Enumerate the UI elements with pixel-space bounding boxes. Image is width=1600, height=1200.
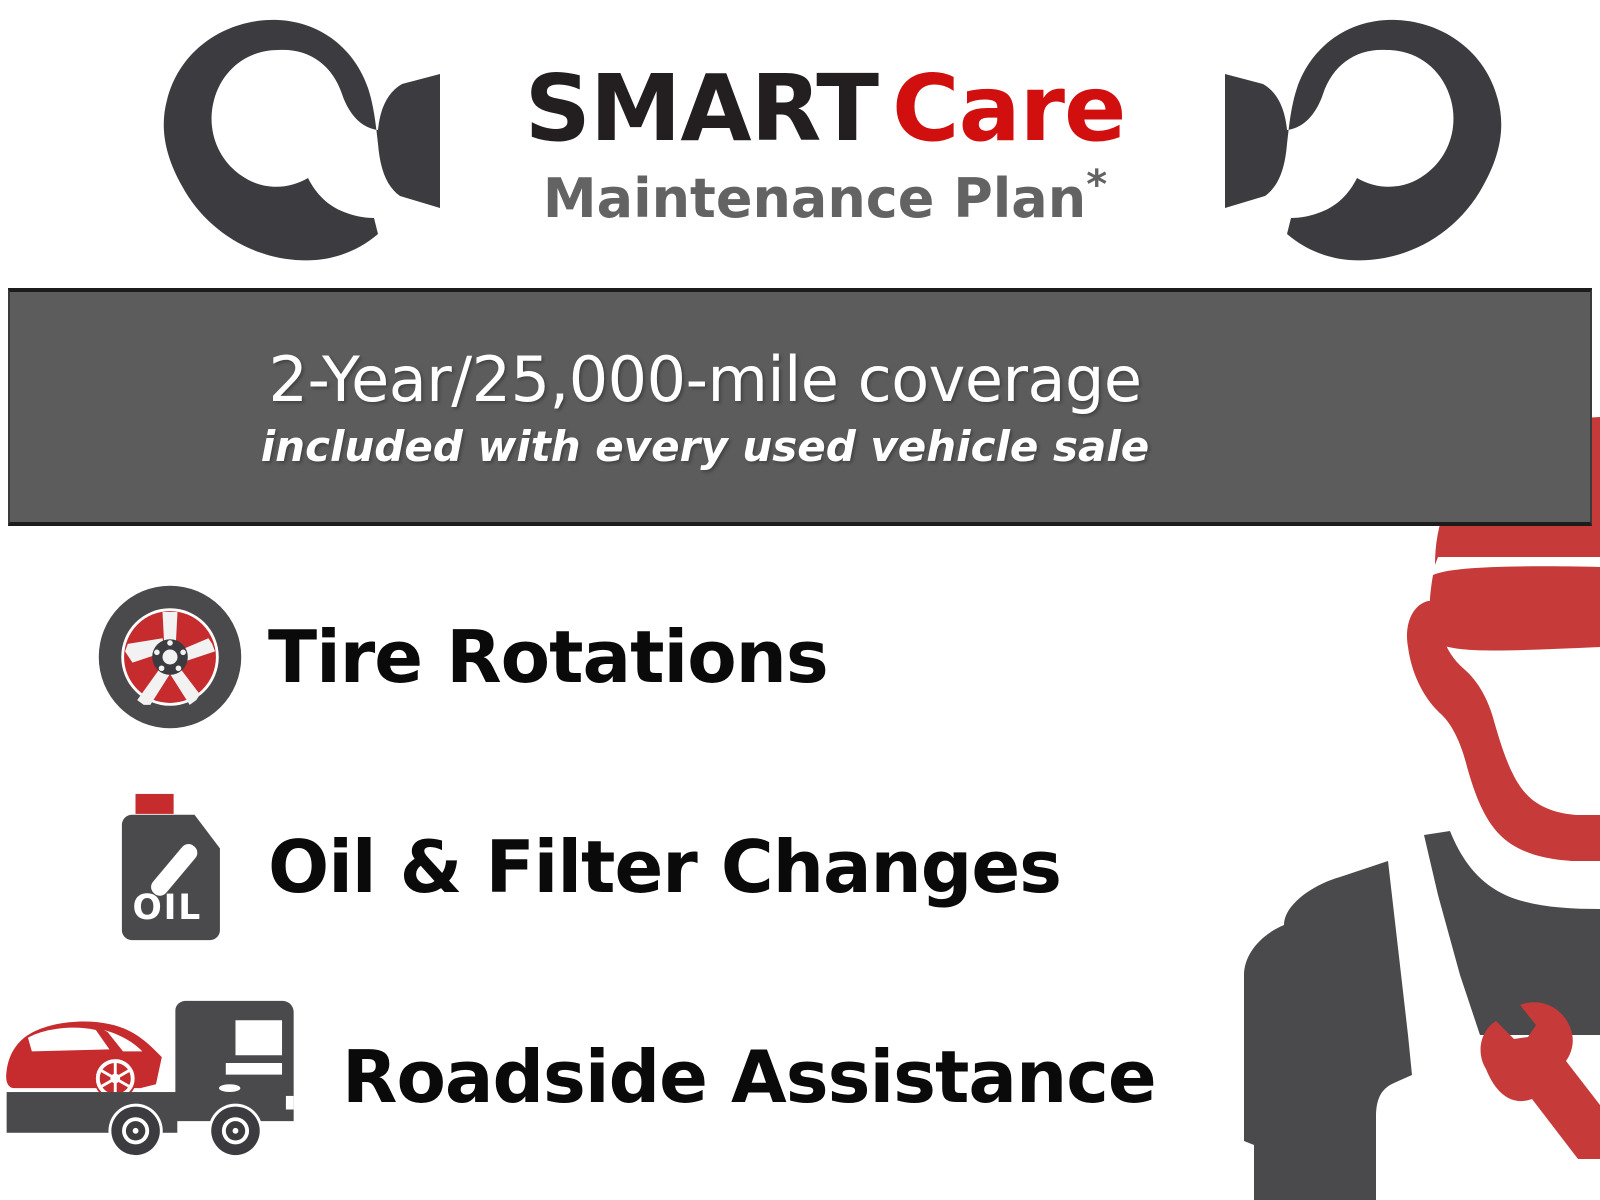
feature-row-roadside-assistance: Roadside Assistance bbox=[0, 972, 1180, 1182]
tow-truck-icon bbox=[0, 995, 320, 1160]
mechanic-cap-brim bbox=[1430, 566, 1600, 650]
brand-name-secondary: Care bbox=[892, 55, 1125, 162]
truck-cab bbox=[175, 1000, 293, 1120]
logo-header: SMARTCare Maintenance Plan* bbox=[0, 0, 1600, 282]
brand-subtitle-text: Maintenance Plan bbox=[543, 167, 1086, 230]
mechanic-illustration bbox=[1180, 415, 1600, 1200]
mechanic-overall-left bbox=[1244, 861, 1412, 1200]
oil-bottle-icon: OIL bbox=[60, 792, 280, 942]
wrench-icon bbox=[1225, 8, 1555, 268]
brand-name-primary: SMART bbox=[525, 55, 878, 162]
brand-title: SMARTCare bbox=[430, 62, 1220, 156]
coverage-headline: 2-Year/25,000-mile coverage bbox=[269, 343, 1142, 416]
feature-list: Tire Rotations OIL Oil & Filter Changes bbox=[0, 552, 1180, 1182]
feature-label-tire-rotations: Tire Rotations bbox=[268, 615, 828, 699]
brand-subtitle: Maintenance Plan* bbox=[430, 162, 1220, 230]
truck-wheel bbox=[208, 1103, 262, 1157]
coverage-subline: included with every used vehicle sale bbox=[261, 422, 1149, 471]
feature-label-roadside-assistance: Roadside Assistance bbox=[342, 1035, 1156, 1119]
brand-subtitle-footnote-marker: * bbox=[1086, 162, 1107, 208]
truck-wheel bbox=[108, 1103, 162, 1157]
feature-row-oil-filter-changes: OIL Oil & Filter Changes bbox=[0, 762, 1180, 972]
feature-label-oil-filter-changes: Oil & Filter Changes bbox=[268, 825, 1061, 909]
oil-bottle-label: OIL bbox=[132, 888, 202, 928]
tire-icon bbox=[60, 582, 280, 732]
coverage-banner: 2-Year/25,000-mile coverage included wit… bbox=[8, 288, 1592, 526]
mechanic-overall-right bbox=[1424, 831, 1600, 1035]
wrench-icon bbox=[110, 8, 440, 268]
feature-row-tire-rotations: Tire Rotations bbox=[0, 552, 1180, 762]
brand-text-block: SMARTCare Maintenance Plan* bbox=[430, 62, 1220, 230]
smart-care-maintenance-plan-graphic: SMARTCare Maintenance Plan* 2-Year/25,00… bbox=[0, 0, 1600, 1200]
